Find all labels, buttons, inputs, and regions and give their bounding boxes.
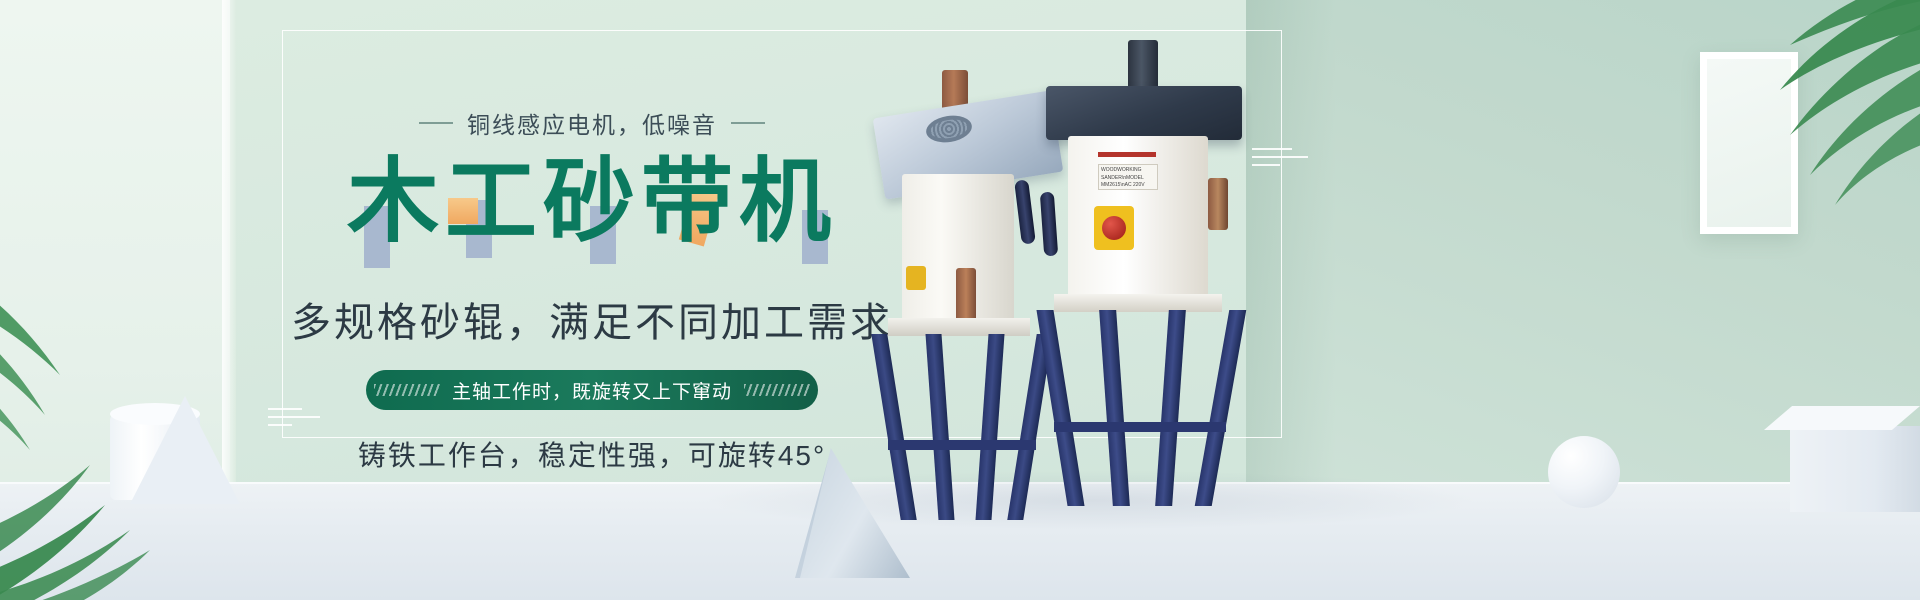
power-switch-left	[906, 266, 926, 290]
feature-pill: 主轴工作时，既旋转又上下窜动	[366, 370, 818, 410]
hatch-icon-right	[744, 384, 810, 396]
sphere-prop	[1548, 436, 1620, 508]
emergency-stop-button[interactable]	[1094, 206, 1134, 250]
leg	[1155, 310, 1186, 506]
banner-copy: 铜线感应电机，低噪音 木工砂带机 多规格砂辊，满足不同加工需求 主轴工作时，既旋…	[282, 30, 902, 450]
eyebrow-dash-left	[419, 122, 453, 124]
title-wrapper: 木工砂带机	[282, 154, 902, 260]
picture-frame-prop	[1700, 52, 1798, 234]
eyebrow-row: 铜线感应电机，低噪音	[282, 106, 902, 140]
leg	[871, 334, 916, 520]
side-drum-right	[1208, 178, 1228, 230]
tagline-text: 多规格砂辊，满足不同加工需求	[282, 290, 902, 348]
leg	[925, 334, 954, 520]
leg	[1099, 310, 1130, 506]
stand-legs-right	[1036, 310, 1242, 510]
spare-drum-left	[956, 268, 976, 324]
cast-iron-table-right	[1046, 86, 1242, 140]
cone-prop	[130, 396, 240, 504]
product-images: WOODWORKING SANDER\nMODEL MM2615\nAC 220…	[860, 60, 1280, 540]
eyebrow-text: 铜线感应电机，低噪音	[467, 106, 717, 140]
sander-machine-right: WOODWORKING SANDER\nMODEL MM2615\nAC 220…	[1032, 60, 1252, 530]
leg-brace	[888, 440, 1036, 450]
leg	[975, 334, 1004, 520]
leg	[1195, 310, 1247, 506]
handle-bar-2	[1040, 192, 1058, 257]
machine-body-right	[1068, 136, 1208, 298]
cube-prop	[1790, 426, 1920, 512]
leg	[1036, 310, 1084, 506]
brand-stripe	[1098, 152, 1156, 157]
hatch-icon-left	[374, 384, 440, 396]
promo-banner: 铜线感应电机，低噪音 木工砂带机 多规格砂辊，满足不同加工需求 主轴工作时，既旋…	[0, 0, 1920, 600]
spec-label: WOODWORKING SANDER\nMODEL MM2615\nAC 220…	[1098, 164, 1158, 190]
footer-text: 铸铁工作台，稳定性强，可旋转45°	[282, 434, 902, 474]
leg-brace	[1054, 422, 1226, 432]
stand-legs-left	[870, 334, 1050, 524]
page-title: 木工砂带机	[282, 154, 902, 251]
eyebrow-dash-right	[731, 122, 765, 124]
feature-pill-text: 主轴工作时，既旋转又上下窜动	[452, 377, 732, 404]
